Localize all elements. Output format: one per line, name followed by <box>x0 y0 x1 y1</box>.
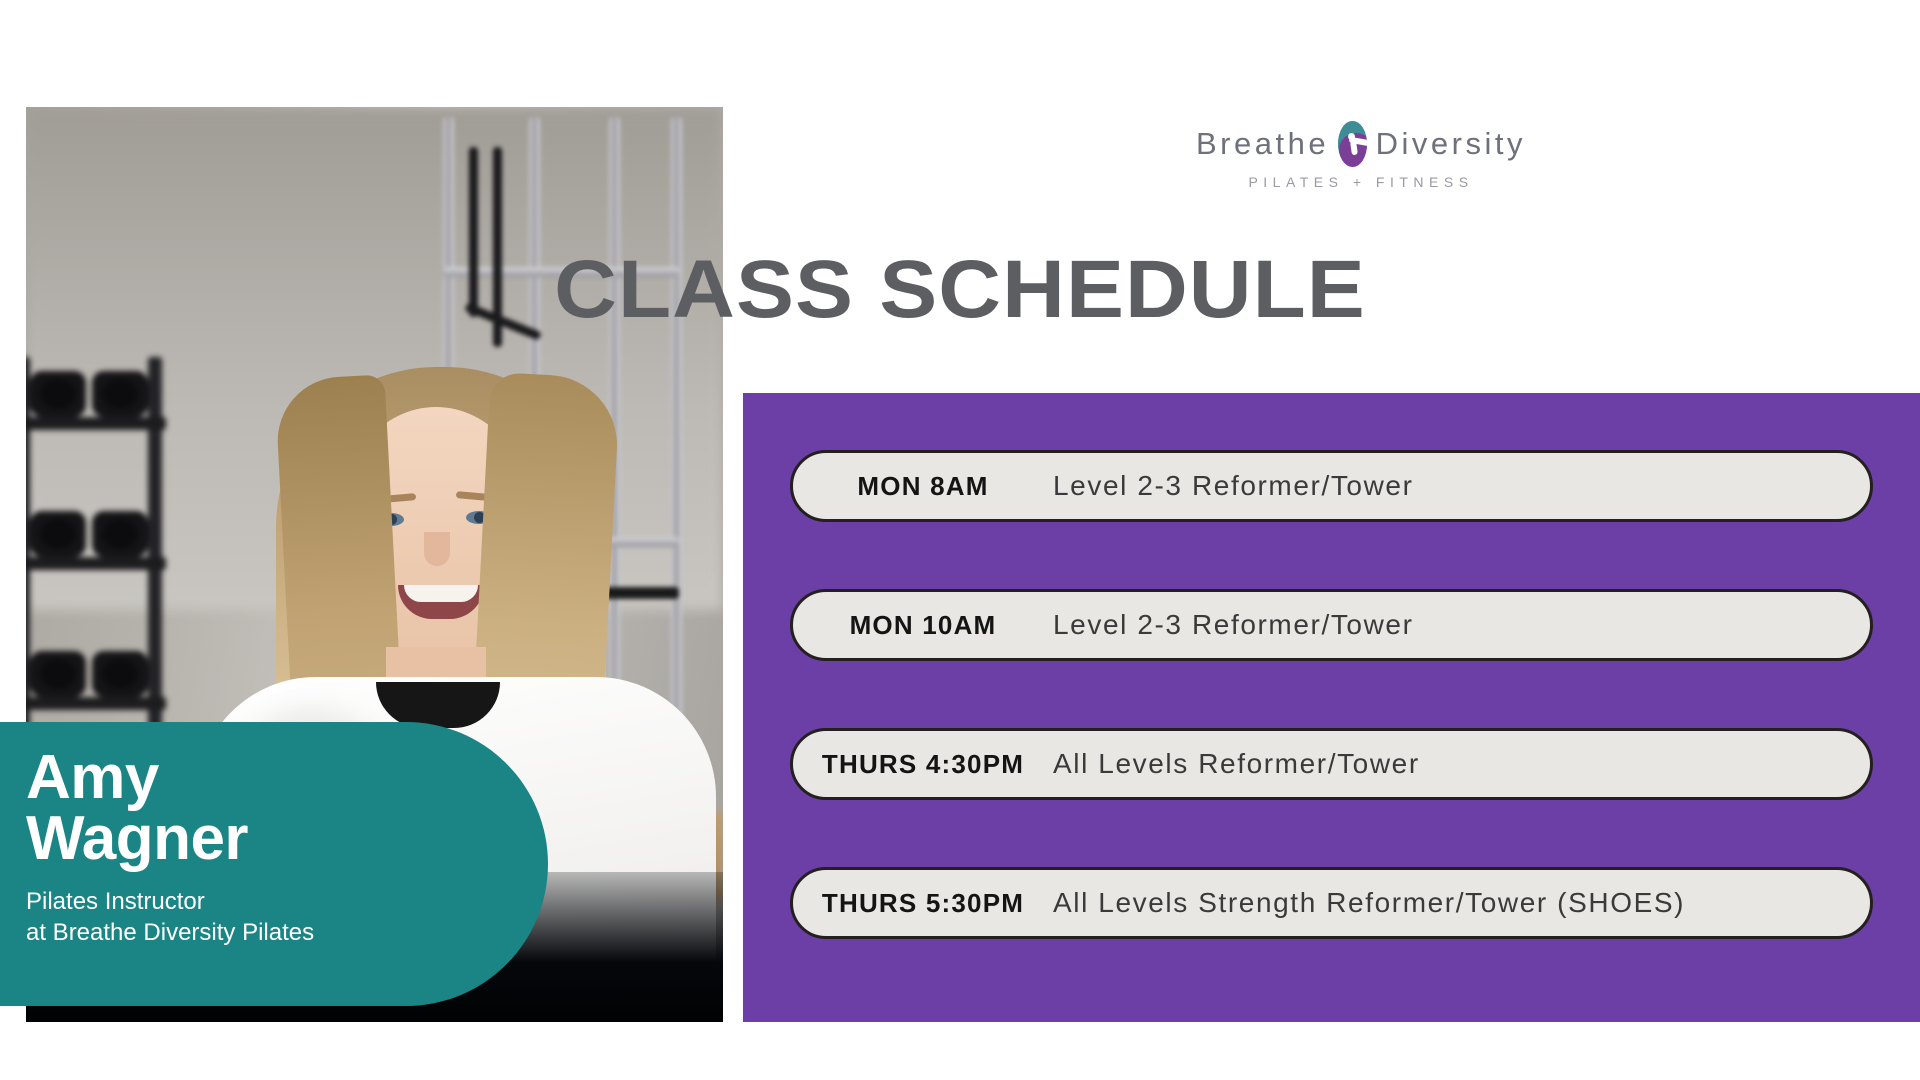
instructor-role: Pilates Instructor at Breathe Diversity … <box>26 886 548 948</box>
schedule-row-description: All Levels Reformer/Tower <box>1053 748 1420 780</box>
instructor-name: Amy Wagner <box>26 748 548 870</box>
logo-word-diversity: Diversity <box>1376 126 1526 162</box>
nose <box>424 532 450 566</box>
poster-canvas: L VE PILATES Amy Wagner Pilates Instruct… <box>0 0 1920 1080</box>
breathe-diversity-circle-icon <box>1338 121 1367 167</box>
page-title: CLASS SCHEDULE <box>0 243 1920 337</box>
schedule-panel: MON 8AM Level 2-3 Reformer/Tower MON 10A… <box>743 393 1920 1022</box>
schedule-row-time: MON 8AM <box>793 471 1053 502</box>
schedule-row: THURS 5:30PM All Levels Strength Reforme… <box>790 867 1873 939</box>
schedule-row: MON 10AM Level 2-3 Reformer/Tower <box>790 589 1873 661</box>
schedule-row-description: Level 2-3 Reformer/Tower <box>1053 470 1414 502</box>
schedule-row-time: THURS 4:30PM <box>793 749 1053 780</box>
schedule-row: MON 8AM Level 2-3 Reformer/Tower <box>790 450 1873 522</box>
schedule-row-description: All Levels Strength Reformer/Tower (SHOE… <box>1053 887 1685 919</box>
schedule-row-time: THURS 5:30PM <box>793 888 1053 919</box>
schedule-row-description: Level 2-3 Reformer/Tower <box>1053 609 1414 641</box>
instructor-name-card: Amy Wagner Pilates Instructor at Breathe… <box>0 722 548 1006</box>
logo-tagline: PILATES + FITNESS <box>1196 174 1526 190</box>
logo-word-breathe: Breathe <box>1196 126 1329 162</box>
schedule-row: THURS 4:30PM All Levels Reformer/Tower <box>790 728 1873 800</box>
schedule-row-time: MON 10AM <box>793 610 1053 641</box>
schedule-rows: MON 8AM Level 2-3 Reformer/Tower MON 10A… <box>790 450 1873 939</box>
brand-logo: Breathe Diversity PILATES + FITNESS <box>1196 120 1526 192</box>
